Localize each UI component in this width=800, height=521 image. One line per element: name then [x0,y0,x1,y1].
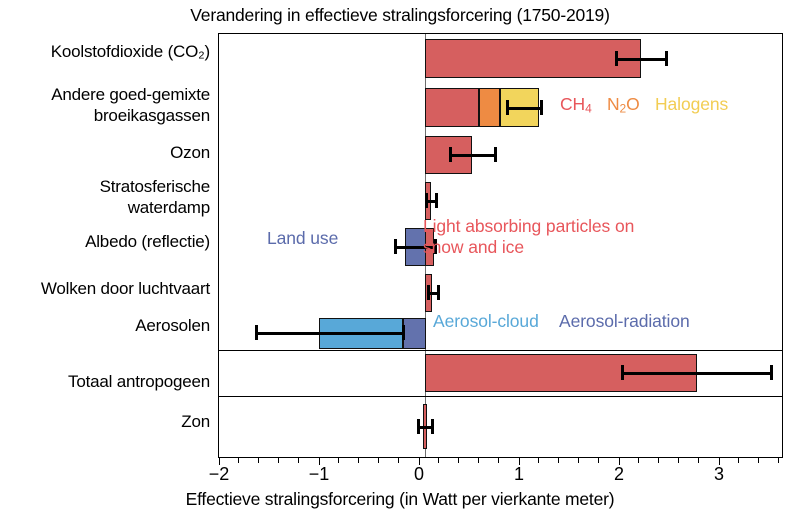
annotation-ch4: CH4 [560,94,592,116]
x-minor-tick [598,458,599,463]
error-bar-total-anthropogenic [621,372,771,375]
bar-row-solar [219,396,782,457]
x-axis-label: Effectieve stralingsforcering (in Watt p… [0,489,800,510]
x-tick-label-minus2: −2 [199,464,239,485]
x-tick-label-two: 2 [599,464,639,485]
annotation-light-absorbing-line2: snow and ice [423,237,634,258]
x-minor-tick [738,458,739,463]
x-minor-tick [278,458,279,463]
error-cap-low-ozone [449,147,452,162]
x-minor-tick [578,458,579,463]
x-minor-tick [558,458,559,463]
error-cap-high-aviation-clouds [437,285,440,300]
x-minor-tick [438,458,439,463]
bar-row-ozone [219,132,782,178]
x-minor-tick [658,458,659,463]
error-bar-co2 [615,58,666,61]
x-minor-tick [778,458,779,463]
error-cap-high-aerosols [402,325,405,340]
x-minor-tick [458,458,459,463]
bar-segment-ch4 [425,88,479,127]
error-cap-high-solar [431,419,434,434]
error-cap-low-aerosols [255,325,258,340]
bar-segment-co2 [425,39,641,78]
error-cap-low-aviation-clouds [427,285,430,300]
x-tick-label-zero: 0 [399,464,439,485]
x-tick-label-three: 3 [699,464,739,485]
bar-row-total-anthropogenic [219,350,782,396]
error-cap-high-other-ghg [540,100,543,115]
error-bar-ozone [449,154,495,157]
y-tick-label-other-ghg: Andere goed-gemixte broeikasgassen [51,84,210,126]
x-minor-tick [338,458,339,463]
y-tick-label-co2: Koolstofdioxide (CO₂) [51,41,210,62]
error-cap-low-strat-water-vapour [425,193,428,208]
error-cap-low-co2 [615,51,618,66]
x-minor-tick [378,458,379,463]
annotation-aerosol-radiation: Aerosol-radiation [559,311,690,332]
x-minor-tick [538,458,539,463]
error-cap-high-total-anthropogenic [770,365,773,380]
radiative-forcing-figure: Verandering in effectieve stralingsforce… [0,0,800,521]
x-minor-tick [478,458,479,463]
annotation-land-use: Land use [267,228,338,249]
chart-title: Verandering in effectieve stralingsforce… [0,5,800,26]
x-tick-label-minus1: −1 [299,464,339,485]
y-tick-label-ozone: Ozon [170,142,210,163]
error-cap-high-co2 [665,51,668,66]
x-minor-tick [258,458,259,463]
error-cap-low-solar [417,419,420,434]
y-tick-label-albedo: Albedo (reflectie) [85,231,210,252]
x-minor-tick [298,458,299,463]
y-tick-label-aviation-clouds: Wolken door luchtvaart [41,278,210,299]
x-minor-tick [358,458,359,463]
error-bar-other-ghg [506,107,541,110]
error-cap-low-albedo [394,239,397,254]
y-tick-label-strat-water-vapour: Stratosferische waterdamp [100,176,210,218]
annotation-halogens: Halogens [655,94,728,115]
annotation-light-absorbing-line1: Light absorbing particles on [423,216,634,237]
x-minor-tick [678,458,679,463]
x-minor-tick [498,458,499,463]
y-tick-label-aerosols: Aerosolen [135,315,210,336]
bar-row-co2 [219,34,782,83]
x-minor-tick [698,458,699,463]
error-cap-low-other-ghg [506,100,509,115]
error-bar-aerosols [255,332,404,335]
annotation-aerosol-cloud: Aerosol-cloud [433,311,539,332]
annotation-light-absorbing-particles: Light absorbing particles on snow and ic… [423,216,634,258]
bar-segment-n2o [479,88,500,127]
bar-segment-aerosol-radiation [403,318,426,349]
x-minor-tick [398,458,399,463]
error-cap-high-ozone [494,147,497,162]
x-minor-tick [758,458,759,463]
x-tick-label-one: 1 [499,464,539,485]
y-tick-label-total-anthropogenic: Totaal antropogeen [68,371,210,392]
error-cap-low-total-anthropogenic [621,365,624,380]
x-minor-tick [238,458,239,463]
x-minor-tick [638,458,639,463]
error-cap-high-strat-water-vapour [435,193,438,208]
annotation-n2o: N2O [607,94,640,116]
bar-row-aviation-clouds [219,270,782,316]
y-tick-label-solar: Zon [181,411,210,432]
